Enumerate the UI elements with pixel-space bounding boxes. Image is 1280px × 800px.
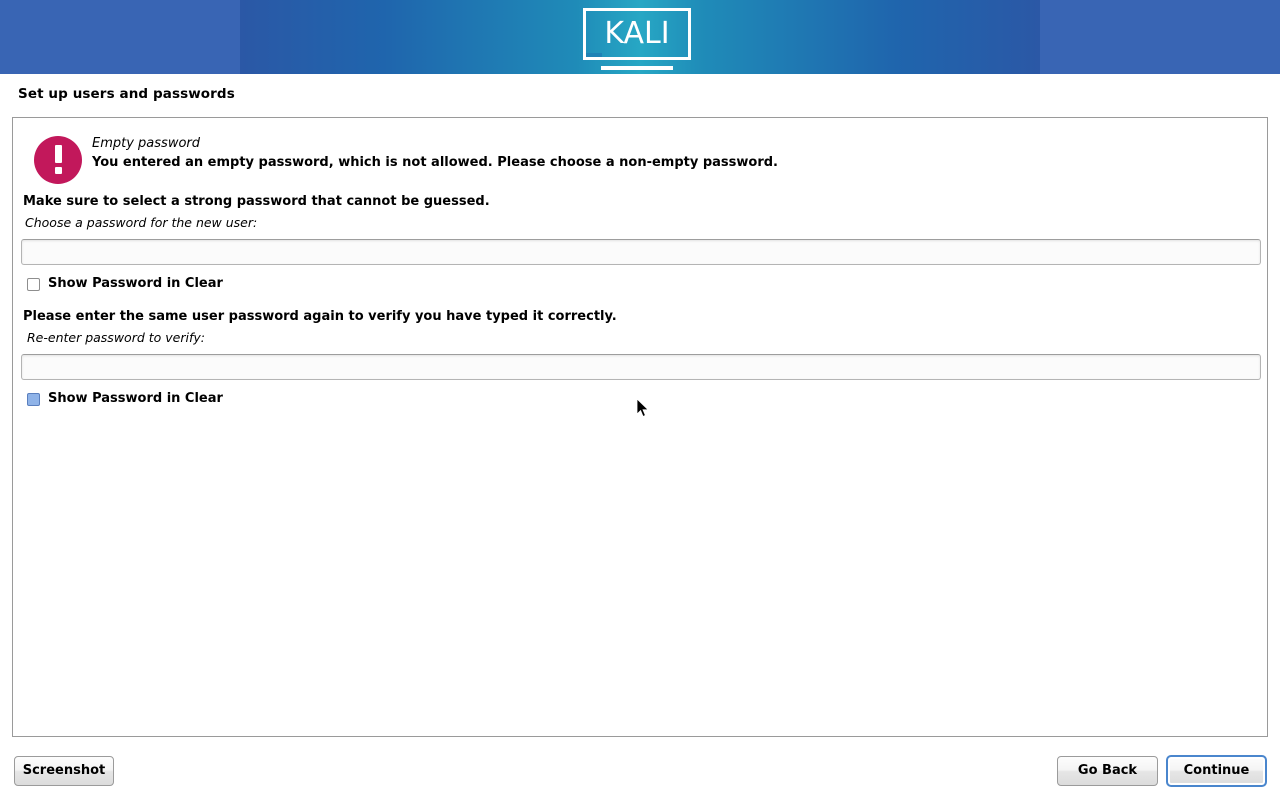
screenshot-button[interactable]: Screenshot: [14, 756, 114, 786]
password-strength-note: Make sure to select a strong password th…: [23, 194, 490, 209]
error-exclamation-icon: [34, 136, 82, 184]
error-title: Empty password: [92, 136, 200, 151]
show-password-checkbox-row-2[interactable]: Show Password in Clear: [27, 391, 247, 409]
show-password-checkbox-2[interactable]: [27, 393, 40, 406]
go-back-button[interactable]: Go Back: [1057, 756, 1158, 786]
error-message: You entered an empty password, which is …: [92, 155, 778, 170]
show-password-checkbox-1[interactable]: [27, 278, 40, 291]
show-password-checkbox-row-1[interactable]: Show Password in Clear: [27, 276, 247, 294]
content-panel: Empty password You entered an empty pass…: [12, 117, 1268, 737]
verify-field-label: Re-enter password to verify:: [27, 330, 205, 345]
exclamation-bar: [55, 145, 62, 163]
verify-password-note: Please enter the same user password agai…: [23, 309, 617, 324]
kali-logo-underline: [601, 66, 673, 70]
page-title: Set up users and passwords: [18, 86, 235, 102]
show-password-label-1: Show Password in Clear: [48, 276, 223, 291]
error-notice: Empty password You entered an empty pass…: [23, 127, 1253, 187]
show-password-label-2: Show Password in Clear: [48, 391, 223, 406]
continue-button[interactable]: Continue: [1166, 755, 1267, 787]
password-field-label: Choose a password for the new user:: [25, 215, 257, 230]
password-input[interactable]: [21, 239, 1261, 265]
kali-logo-text: KALI: [583, 8, 691, 60]
exclamation-dot: [55, 167, 62, 174]
kali-logo: KALI: [583, 8, 697, 66]
verify-password-input[interactable]: [21, 354, 1261, 380]
installer-banner: KALI: [0, 0, 1280, 74]
